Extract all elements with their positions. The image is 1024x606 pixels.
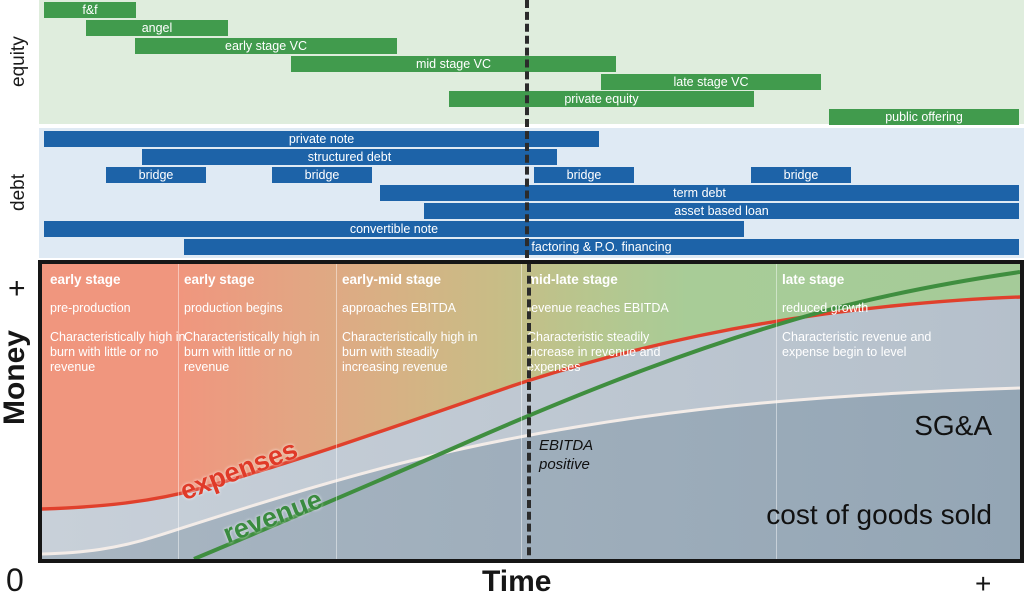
stage-title: mid-late stage bbox=[527, 272, 677, 287]
stage-column-5: late stagereduced growthCharacteristic r… bbox=[782, 272, 932, 360]
ebitda-positive-annotation: EBITDA positive bbox=[539, 436, 593, 474]
debt-bar-bridge-2: bridge bbox=[106, 167, 206, 183]
stage-subtitle: reduced growth bbox=[782, 301, 932, 316]
stage-title: early stage bbox=[184, 272, 334, 287]
debt-bar-bridge-5: bridge bbox=[751, 167, 851, 183]
cogs-area-label: cost of goods sold bbox=[766, 499, 992, 531]
stage-subtitle: pre-production bbox=[50, 301, 200, 316]
stage-subtitle: approaches EBITDA bbox=[342, 301, 492, 316]
ebitda-note-line1: EBITDA bbox=[539, 436, 593, 455]
debt-bar-bridge-3: bridge bbox=[272, 167, 372, 183]
equity-bar-private-equity: private equity bbox=[449, 91, 754, 107]
infographic-root: equity f&fangelearly stage VCmid stage V… bbox=[0, 0, 1024, 606]
debt-row-label: debt bbox=[8, 160, 30, 226]
axis-origin-zero: 0 bbox=[6, 562, 24, 599]
stage-description: Characteristic steadily increase in reve… bbox=[527, 330, 677, 375]
stage-subtitle: production begins bbox=[184, 301, 334, 316]
equity-row-label: equity bbox=[8, 26, 30, 98]
stage-divider-2 bbox=[336, 264, 337, 559]
stage-title: early-mid stage bbox=[342, 272, 492, 287]
debt-bar-private-note-0: private note bbox=[44, 131, 599, 147]
equity-bar-f-f: f&f bbox=[44, 2, 136, 18]
debt-bar-convertible-note-8: convertible note bbox=[44, 221, 744, 237]
stage-description: Characteristically high in burn with lit… bbox=[50, 330, 200, 375]
y-axis-title: Money bbox=[0, 330, 32, 425]
stage-subtitle: revenue reaches EBITDA bbox=[527, 301, 677, 316]
debt-bar-bridge-4: bridge bbox=[534, 167, 634, 183]
sgna-area-label: SG&A bbox=[914, 410, 992, 442]
debt-bar-asset-based-loan-7: asset based loan bbox=[424, 203, 1019, 219]
money-vs-time-chart: early stagepre-productionCharacteristica… bbox=[38, 260, 1024, 563]
ebitda-divider-chart bbox=[527, 264, 531, 563]
equity-bar-angel: angel bbox=[86, 20, 228, 36]
ebitda-divider-top bbox=[525, 0, 529, 258]
stage-divider-3 bbox=[521, 264, 522, 559]
stage-column-1: early stagepre-productionCharacteristica… bbox=[50, 272, 200, 375]
equity-bar-public-offering: public offering bbox=[829, 109, 1019, 125]
stage-title: late stage bbox=[782, 272, 932, 287]
debt-bar-structured-debt-1: structured debt bbox=[142, 149, 557, 165]
ebitda-note-line2: positive bbox=[539, 455, 593, 474]
equity-bar-early-stage-vc: early stage VC bbox=[135, 38, 397, 54]
stage-column-4: mid-late stagerevenue reaches EBITDAChar… bbox=[527, 272, 677, 375]
stage-description: Characteristically high in burn with ste… bbox=[342, 330, 492, 375]
stage-column-2: early stageproduction beginsCharacterist… bbox=[184, 272, 334, 375]
debt-bar-term-debt-6: term debt bbox=[380, 185, 1019, 201]
stage-description: Characteristic revenue and expense begin… bbox=[782, 330, 932, 360]
x-axis-title: Time bbox=[482, 565, 551, 599]
stage-description: Characteristically high in burn with lit… bbox=[184, 330, 334, 375]
stage-title: early stage bbox=[50, 272, 200, 287]
stage-column-3: early-mid stageapproaches EBITDACharacte… bbox=[342, 272, 492, 375]
debt-bar-factoring-p-o-financing-9: factoring & P.O. financing bbox=[184, 239, 1019, 255]
y-axis-plus: + bbox=[8, 272, 26, 306]
x-axis-plus: + bbox=[975, 568, 991, 600]
equity-bar-mid-stage-vc: mid stage VC bbox=[291, 56, 616, 72]
equity-bar-late-stage-vc: late stage VC bbox=[601, 74, 821, 90]
